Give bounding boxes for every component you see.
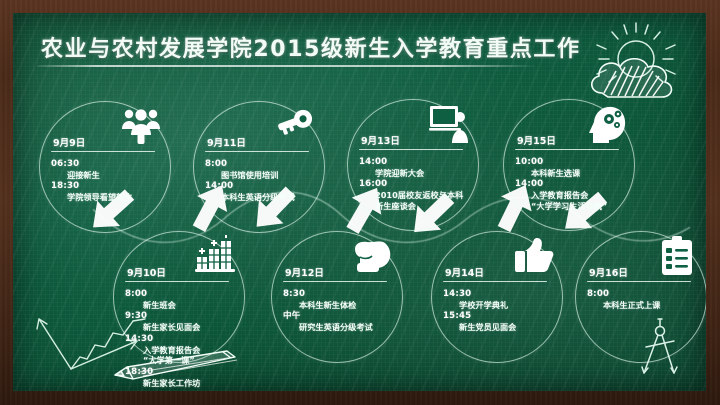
item-desc: 2010届校友返校与本科新生座谈会 [359, 190, 471, 211]
head-gears-icon [583, 103, 627, 145]
node-item: 06:30 迎接新生 [51, 159, 163, 180]
node-item: 14:30 学校开学典礼 [443, 289, 555, 310]
sun-cloud-doodle [580, 19, 702, 107]
node-date: 9月11日 [207, 135, 246, 149]
node-item: 中午 研究生英语分级考试 [283, 311, 395, 332]
item-desc: 本科新生选课 [515, 168, 627, 179]
node-item: 8:00 本科生正式上课 [587, 289, 699, 310]
item-desc: 研究生英语分级考试 [283, 322, 395, 333]
node-date: 9月13日 [361, 133, 400, 147]
item-time: 10:00 [515, 157, 627, 168]
item-time: 14:00 [515, 179, 627, 190]
page-title: 农业与农村发展学院2015级新生入学教育重点工作 [41, 31, 581, 63]
timeline-node-3[interactable]: 9月15日 [503, 99, 635, 231]
timeline-node-6[interactable]: 9月14日 14:30 学校开学典礼 15:45 新生党员见面会 [431, 231, 563, 363]
item-time: 06:30 [51, 159, 163, 170]
node-item: 14:00 入学教育报告会 “大学学习生活导航” [515, 179, 627, 211]
item-time: 14:30 [443, 289, 555, 300]
node-item: 14:30 入学教育报告会 “大学第一课” [125, 334, 237, 366]
node-items: 8:00 图书馆使用培训 14:00 本科生英语分级考试 [205, 159, 317, 204]
bar-chart-icon [193, 235, 237, 277]
clipboard-checklist-icon [655, 235, 699, 277]
key-icon [273, 105, 317, 147]
timeline-node-5[interactable]: 9月12日 8:30 本科生新生体检 中午 研究生英语分级考试 [271, 231, 403, 363]
cloud-shape [592, 59, 672, 97]
item-desc: 本科生英语分级考试 [205, 192, 317, 203]
node-item: 15:45 新生党员见面会 [443, 311, 555, 332]
timeline-node-1[interactable]: 9月11日 8:00 图书馆使用培训 14:00 本科生英语分级考试 [193, 101, 325, 233]
node-items: 14:00 学院迎新大会 16:00 2010届校友返校与本科新生座谈会 [359, 157, 471, 212]
item-desc: 学校开学典礼 [443, 300, 555, 311]
node-item: 8:00 新生班会 [125, 289, 237, 310]
item-desc: 本科生正式上课 [587, 300, 699, 311]
node-date: 9月10日 [127, 265, 166, 279]
item-time: 8:00 [205, 159, 317, 170]
timeline-node-0[interactable]: 9月9日 06:30 迎接新生 18:30 学院领导看望新生 [39, 101, 171, 233]
item-time: 8:00 [587, 289, 699, 300]
node-items: 10:00 本科新生选课 14:00 入学教育报告会 “大学学习生活导航” [515, 157, 627, 212]
item-time: 中午 [283, 311, 395, 322]
item-desc: 入学教育报告会 “大学学习生活导航” [515, 190, 627, 211]
item-time: 8:00 [125, 289, 237, 300]
node-item: 8:30 本科生新生体检 [283, 289, 395, 310]
node-item: 16:00 2010届校友返校与本科新生座谈会 [359, 179, 471, 211]
node-items: 8:30 本科生新生体检 中午 研究生英语分级考试 [283, 289, 395, 334]
item-time: 15:45 [443, 311, 555, 322]
node-date: 9月12日 [285, 265, 324, 279]
node-item: 9:30 新生家长见面会 [125, 311, 237, 332]
node-item: 8:00 图书馆使用培训 [205, 159, 317, 180]
node-item: 18:30 新生家长工作坊 [125, 367, 237, 388]
node-item: 14:00 本科生英语分级考试 [205, 181, 317, 202]
item-time: 16:00 [359, 179, 471, 190]
item-time: 18:30 [125, 367, 237, 378]
timeline-node-7[interactable]: 9月16日 8:00 [575, 231, 706, 363]
item-time: 18:30 [51, 181, 163, 192]
item-desc: 新生家长见面会 [125, 322, 237, 333]
item-desc: 迎接新生 [51, 170, 163, 181]
title-underline [37, 65, 537, 67]
muscle-arm-icon [351, 235, 395, 277]
node-items: 14:30 学校开学典礼 15:45 新生党员见面会 [443, 289, 555, 334]
item-desc: 本科生新生体检 [283, 300, 395, 311]
node-items: 8:00 本科生正式上课 [587, 289, 699, 311]
timeline-node-4[interactable]: 9月10日 8:00 新生班会 [113, 231, 245, 363]
node-date: 9月14日 [445, 265, 484, 279]
node-item: 18:30 学院领导看望新生 [51, 181, 163, 202]
item-desc: 新生家长工作坊 [125, 378, 237, 389]
node-items: 06:30 迎接新生 18:30 学院领导看望新生 [51, 159, 163, 204]
item-desc: 学院迎新大会 [359, 168, 471, 179]
item-time: 9:30 [125, 311, 237, 322]
chalkboard-surface: 农业与农村发展学院2015级新生入学教育重点工作 [13, 13, 706, 391]
item-time: 14:00 [359, 157, 471, 168]
item-desc: 新生党员见面会 [443, 322, 555, 333]
item-desc: 图书馆使用培训 [205, 170, 317, 181]
node-item: 14:00 学院迎新大会 [359, 157, 471, 178]
node-date: 9月16日 [589, 265, 628, 279]
node-items: 8:00 新生班会 9:30 新生家长见面会 14:30 入学教育报告会 “大学… [125, 289, 237, 389]
node-item: 10:00 本科新生选课 [515, 157, 627, 178]
item-time: 14:00 [205, 181, 317, 192]
node-date: 9月9日 [53, 135, 85, 149]
item-desc: 学院领导看望新生 [51, 192, 163, 203]
timeline-node-2[interactable]: 9月13日 14:00 学院迎新大会 16:00 2010届校友 [347, 99, 479, 231]
chalkboard-frame: 农业与农村发展学院2015级新生入学教育重点工作 [0, 0, 720, 405]
node-date: 9月15日 [517, 133, 556, 147]
presentation-icon [427, 103, 471, 145]
item-desc: 新生班会 [125, 300, 237, 311]
group-people-icon [119, 105, 163, 147]
thumbs-up-icon [511, 235, 555, 277]
item-desc: 入学教育报告会 “大学第一课” [125, 345, 237, 366]
item-time: 14:30 [125, 334, 237, 345]
item-time: 8:30 [283, 289, 395, 300]
